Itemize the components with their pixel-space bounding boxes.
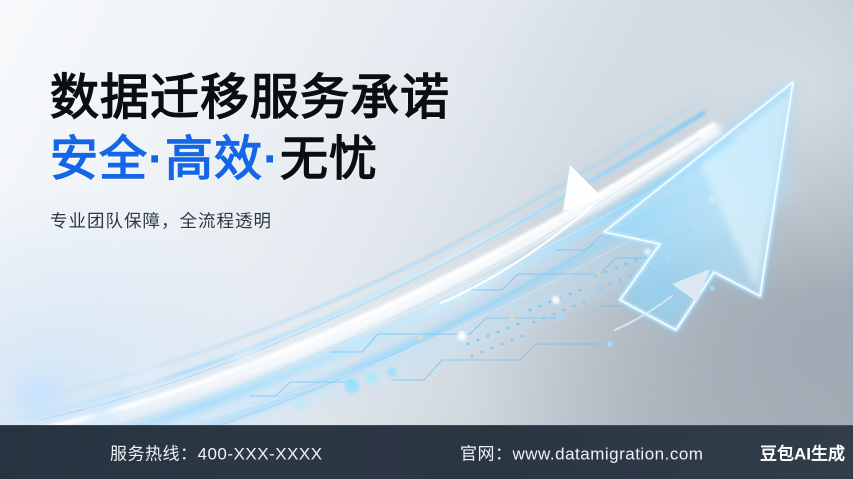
subtitle-dark: 无忧 xyxy=(280,133,378,186)
tagline: 专业团队保障，全流程透明 xyxy=(50,208,520,233)
hotline-text: 服务热线：400-XXX-XXXX xyxy=(110,440,323,465)
headline-block: 数据迁移服务承诺 安全·高效·无忧 专业团队保障，全流程透明 xyxy=(50,70,520,233)
page-subtitle: 安全·高效·无忧 xyxy=(50,131,520,189)
subtitle-highlight: 安全·高效· xyxy=(50,133,280,186)
page-title: 数据迁移服务承诺 xyxy=(50,70,520,127)
poster-canvas: 数据迁移服务承诺 安全·高效·无忧 专业团队保障，全流程透明 服务热线：400-… xyxy=(0,0,853,479)
footer-bar: 服务热线：400-XXX-XXXX 官网：www.datamigration.c… xyxy=(0,425,853,479)
website-text: 官网：www.datamigration.com xyxy=(460,440,703,465)
ai-watermark: 豆包AI生成 xyxy=(760,440,845,465)
